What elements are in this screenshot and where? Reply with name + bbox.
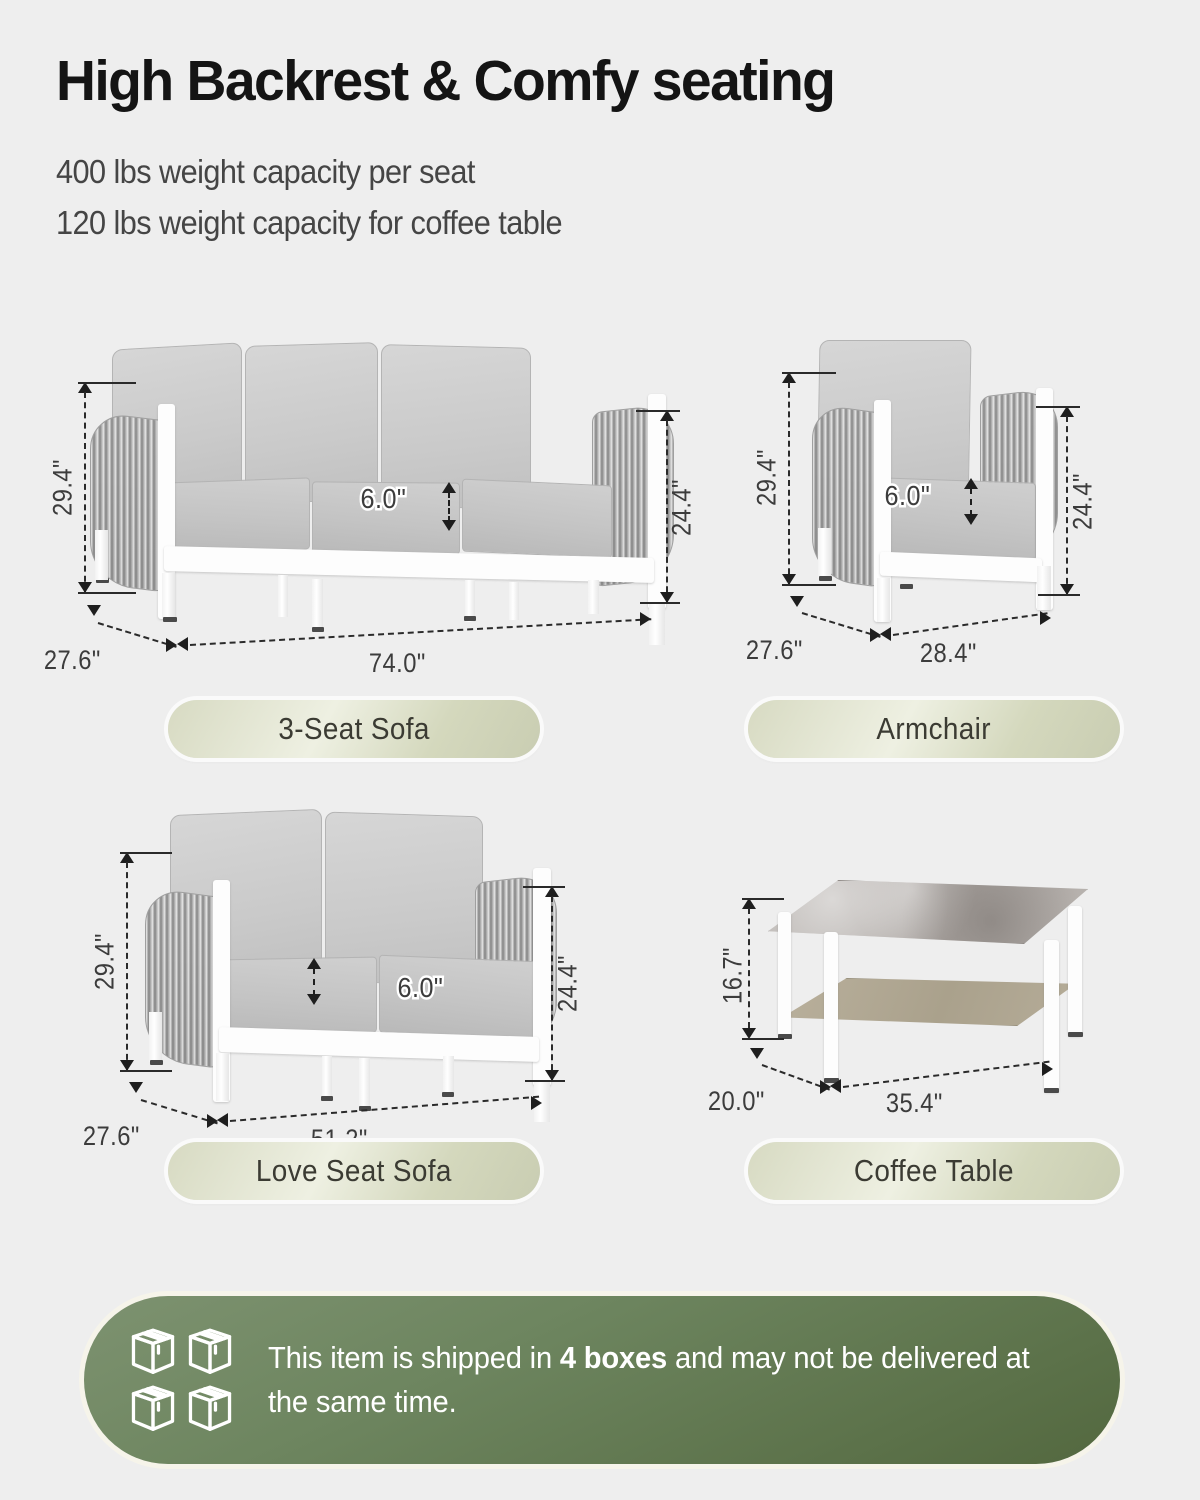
dimension-value: 29.4" <box>90 913 121 1010</box>
leg <box>322 1056 332 1098</box>
shipping-banner: This item is shipped in 4 boxes and may … <box>84 1296 1120 1464</box>
dimension-value: 24.4" <box>1068 453 1099 550</box>
leg <box>95 530 108 580</box>
product-label-love-seat-sofa[interactable]: Love Seat Sofa <box>168 1142 540 1200</box>
foot-pad <box>312 627 324 632</box>
dimension-value: 27.6" <box>83 1121 140 1152</box>
dimension-value: 35.4" <box>886 1088 943 1119</box>
dimension-value: 29.4" <box>752 429 783 526</box>
dimension-value: 28.4" <box>920 638 977 669</box>
foot-pad <box>163 617 177 622</box>
product-label-text: 3-Seat Sofa <box>278 711 429 747</box>
foot-pad <box>321 1096 333 1101</box>
shipping-text-before: This item is shipped in <box>268 1340 560 1375</box>
dimension-value: 27.6" <box>44 645 101 676</box>
foot-pad <box>464 616 476 621</box>
foot-pad <box>900 584 913 589</box>
subtitle-group: 400 lbs weight capacity per seat 120 lbs… <box>56 146 1156 248</box>
dimension-value: 16.7" <box>718 927 749 1024</box>
dimension-value: 27.6" <box>746 635 803 666</box>
shipping-box-icon <box>185 1384 235 1434</box>
leg <box>149 1012 162 1062</box>
dimension-value: 6.0" <box>885 480 931 512</box>
leg <box>359 1058 370 1108</box>
leg <box>216 1053 229 1101</box>
header-block: High Backrest & Comfy seating 400 lbs we… <box>56 52 1156 248</box>
table-top-surface <box>768 880 1088 944</box>
product-grid: 29.4" 24.4" 6.0" <box>0 330 1200 1260</box>
dimension-value: 29.4" <box>48 439 79 536</box>
leg <box>312 579 323 629</box>
shipping-box-icon <box>128 1327 178 1377</box>
product-figure-coffee-table: 16.7" 20.0" 35.4" <box>720 870 1160 1260</box>
product-label-text: Love Seat Sofa <box>256 1153 452 1189</box>
dimension-value: 6.0" <box>398 972 444 1004</box>
shipping-box-count: 4 boxes <box>560 1340 667 1375</box>
leg-front-left <box>824 932 838 1082</box>
dimension-value: 20.0" <box>708 1086 765 1117</box>
seat-cushion <box>162 477 310 554</box>
coffee-table-illustration: 16.7" 20.0" 35.4" <box>720 870 1160 1260</box>
product-label-text: Armchair <box>877 711 991 747</box>
leg <box>162 573 175 619</box>
leg-rear-right <box>1068 906 1082 1036</box>
leg <box>509 582 519 620</box>
dimension-value: 74.0" <box>369 648 426 679</box>
seat-cushion <box>462 479 612 559</box>
page-title: High Backrest & Comfy seating <box>56 52 1123 112</box>
leg <box>443 1056 454 1094</box>
foot-pad <box>442 1092 454 1097</box>
shipping-box-icon <box>128 1384 178 1434</box>
subtitle-line-2: 120 lbs weight capacity for coffee table <box>56 197 1079 248</box>
product-label-coffee-table[interactable]: Coffee Table <box>748 1142 1120 1200</box>
dimension-value: 6.0" <box>361 483 407 515</box>
product-label-text: Coffee Table <box>854 1153 1014 1189</box>
leg <box>588 580 599 614</box>
foot-pad <box>1068 1032 1083 1037</box>
leg-rear-left <box>778 912 791 1036</box>
leg <box>818 528 831 578</box>
foot-pad <box>150 1060 163 1065</box>
dimension-value: 24.4" <box>667 459 698 556</box>
shipping-box-icon <box>185 1327 235 1377</box>
shipping-banner-text: This item is shipped in 4 boxes and may … <box>268 1336 1069 1424</box>
leg <box>877 578 890 622</box>
leg <box>1037 566 1051 610</box>
shipping-box-icon-group <box>128 1327 235 1434</box>
leg <box>278 575 288 617</box>
foot-pad <box>819 576 832 581</box>
dimension-value: 24.4" <box>553 935 584 1032</box>
subtitle-line-1: 400 lbs weight capacity per seat <box>56 146 1079 197</box>
product-label-3-seat-sofa[interactable]: 3-Seat Sofa <box>168 700 540 758</box>
leg <box>649 603 665 645</box>
product-label-armchair[interactable]: Armchair <box>748 700 1120 758</box>
foot-pad <box>1044 1088 1059 1093</box>
seat-cushion <box>217 957 377 1036</box>
